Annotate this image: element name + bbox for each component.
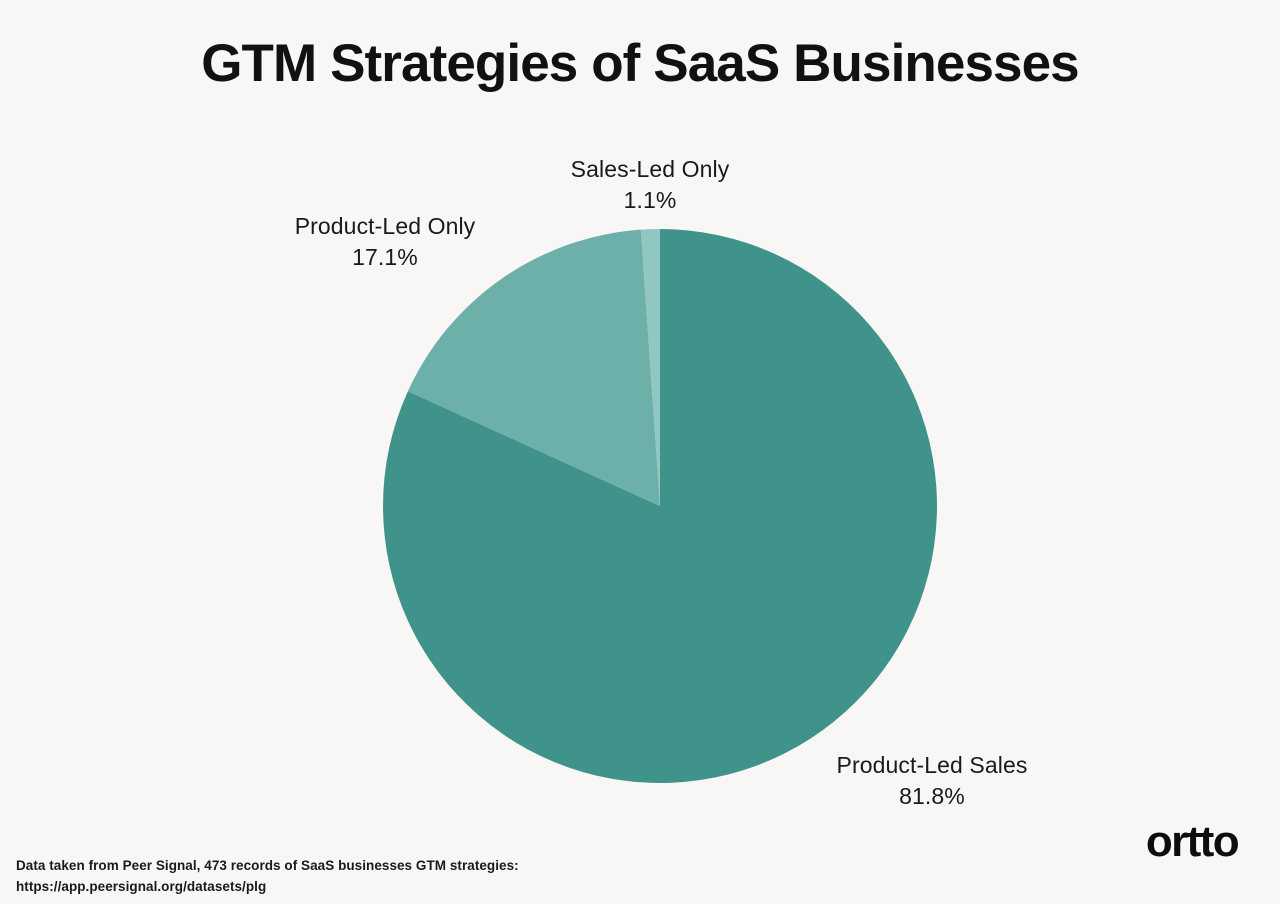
pie-svg — [383, 229, 937, 783]
chart-title: GTM Strategies of SaaS Businesses — [0, 32, 1280, 96]
pie-label-product-led-only: Product-Led Only 17.1% — [235, 211, 535, 273]
pie-label-sales-led-only-value: 1.1% — [500, 185, 800, 216]
pie-label-product-led-sales-value: 81.8% — [782, 781, 1082, 812]
pie-label-product-led-only-value: 17.1% — [235, 242, 535, 273]
pie-label-product-led-sales-name: Product-Led Sales — [837, 752, 1028, 778]
pie-label-sales-led-only-name: Sales-Led Only — [571, 156, 730, 182]
pie-label-product-led-only-name: Product-Led Only — [295, 213, 476, 239]
source-footnote: Data taken from Peer Signal, 473 records… — [16, 855, 519, 897]
pie-label-sales-led-only: Sales-Led Only 1.1% — [500, 154, 800, 216]
chart-canvas: GTM Strategies of SaaS Businesses Sales-… — [0, 0, 1280, 904]
pie-label-product-led-sales: Product-Led Sales 81.8% — [782, 750, 1082, 812]
source-footnote-url[interactable]: https://app.peersignal.org/datasets/plg — [16, 876, 519, 897]
pie-chart — [383, 229, 937, 783]
source-footnote-line1: Data taken from Peer Signal, 473 records… — [16, 855, 519, 876]
ortto-logo: ortto — [1146, 818, 1238, 866]
